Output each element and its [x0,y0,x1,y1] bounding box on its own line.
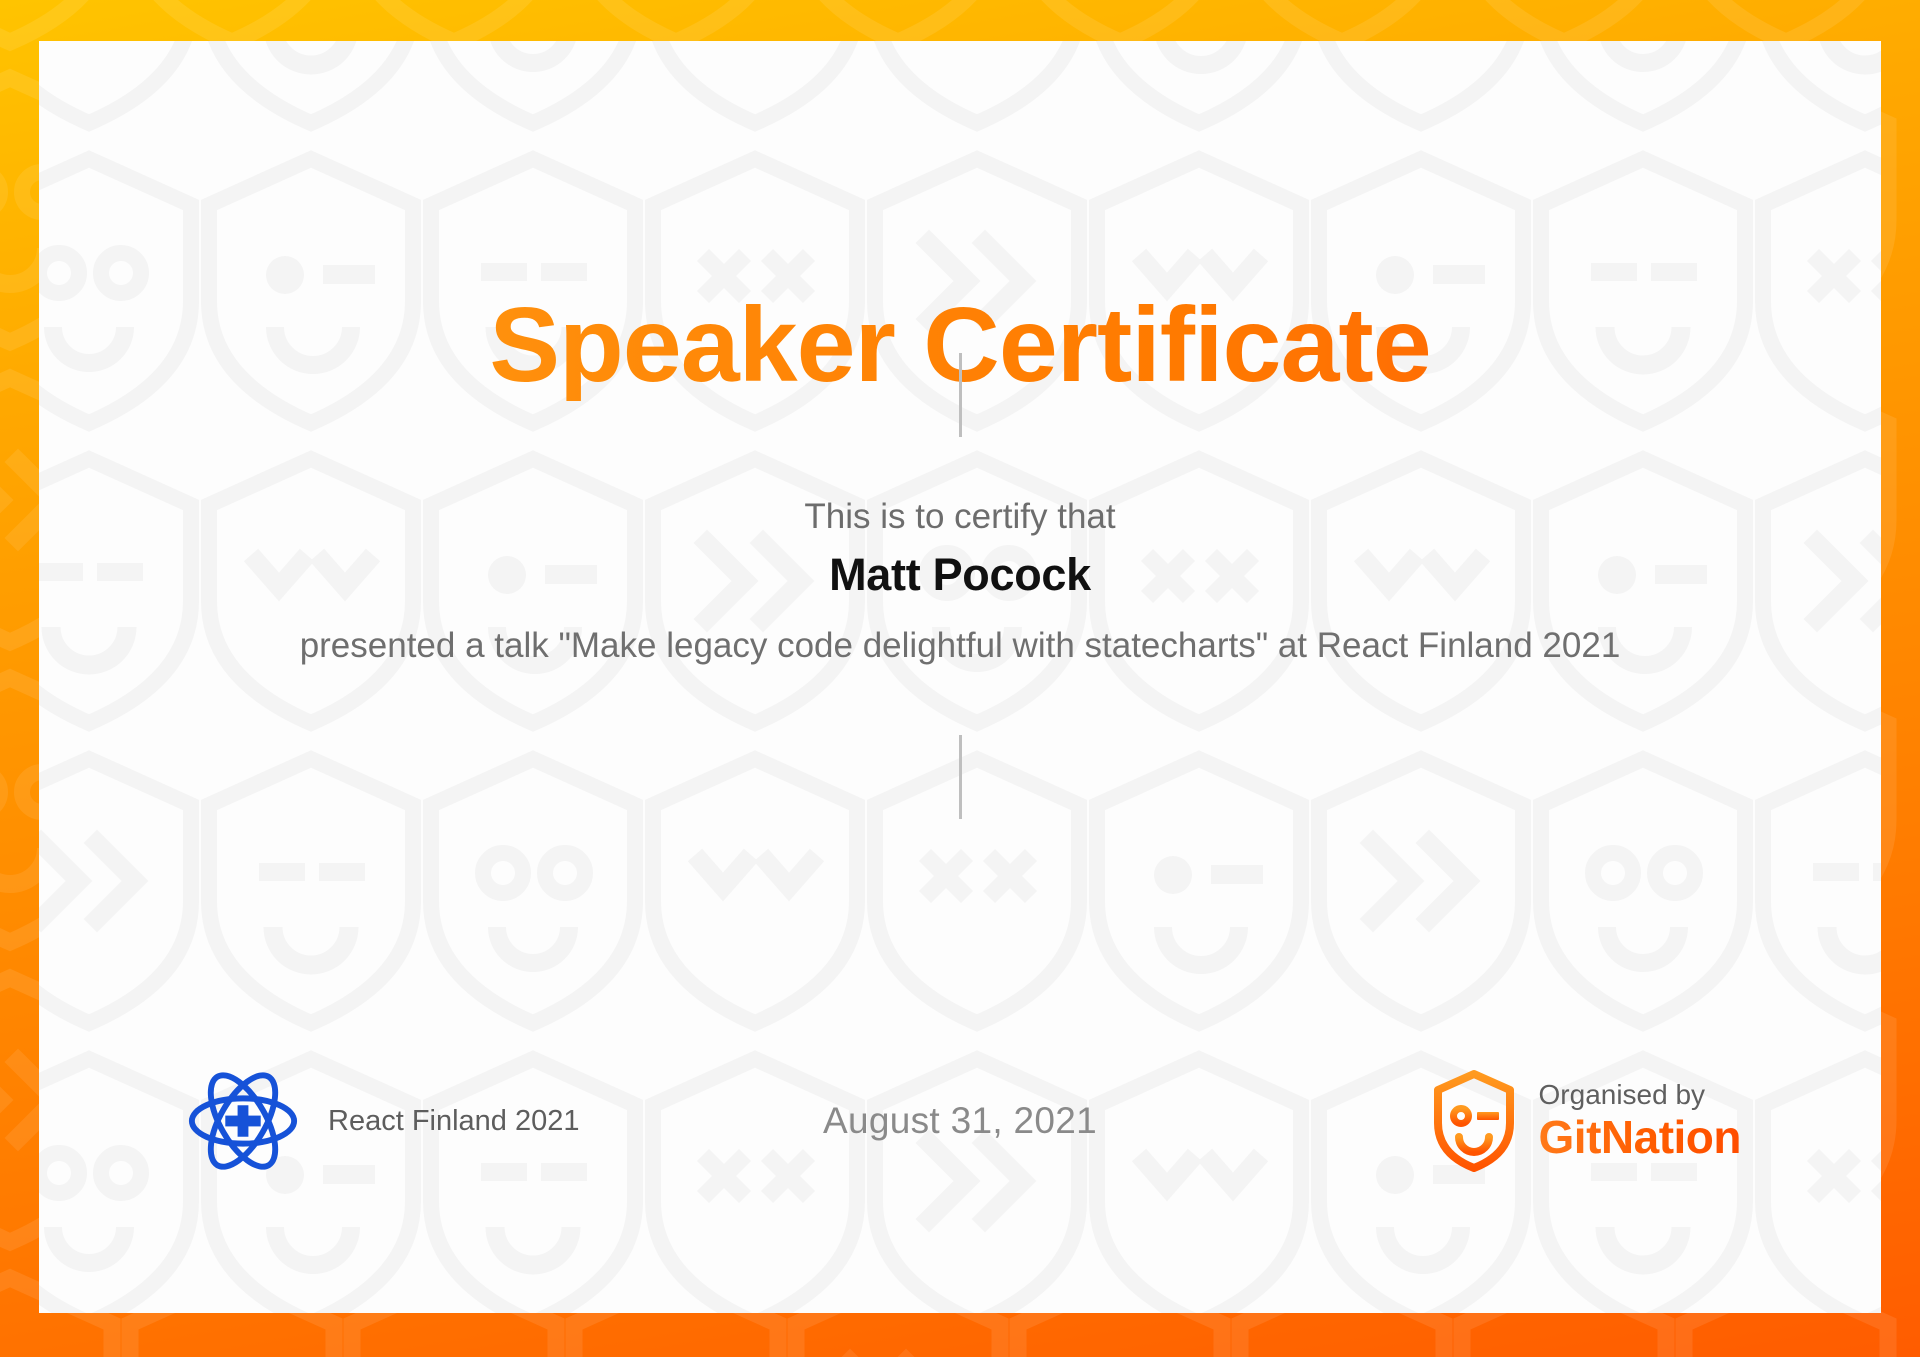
talk-description: presented a talk "Make legacy code delig… [254,621,1666,671]
certificate-card: Speaker Certificate This is to certify t… [39,41,1881,1313]
certificate-page: Speaker Certificate This is to certify t… [0,0,1920,1357]
issue-date: August 31, 2021 [823,1100,1097,1142]
organiser-text: Organised by GitNation [1539,1080,1741,1161]
divider-top [959,353,962,437]
certificate-footer: React Finland 2021 August 31, 2021 [39,1041,1881,1201]
recipient-name: Matt Pocock [39,549,1881,601]
gitnation-shield-smiley-icon [1431,1069,1517,1173]
organised-by-label: Organised by [1539,1080,1741,1111]
gitnation-wordmark: GitNation [1539,1113,1741,1161]
organiser-branding: Organised by GitNation [1431,1041,1741,1201]
certify-line: This is to certify that [39,497,1881,537]
divider-bottom [959,735,962,819]
